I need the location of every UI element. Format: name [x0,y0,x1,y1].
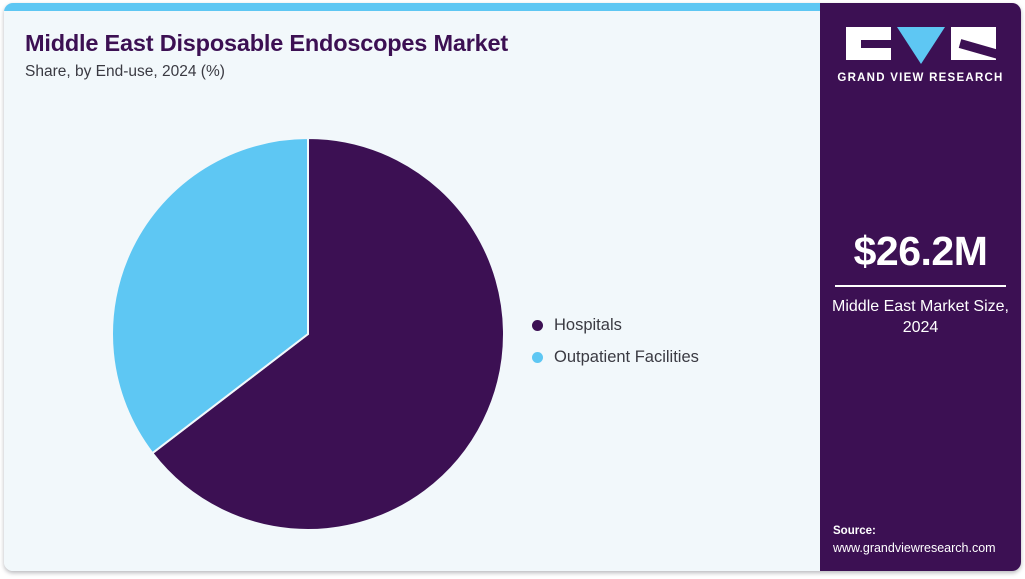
chart-panel: Middle East Disposable Endoscopes Market… [4,11,820,571]
stat-divider [835,285,1006,287]
source-url[interactable]: www.grandviewresearch.com [833,540,1021,557]
legend-item-outpatient-facilities[interactable]: Outpatient Facilities [532,341,782,373]
logo-marks [820,27,1021,63]
brand-logo: GRAND VIEW RESEARCH [820,27,1021,84]
legend-label-outpatient-facilities: Outpatient Facilities [554,348,699,367]
infographic-card: Middle East Disposable Endoscopes Market… [4,3,1021,571]
source-label: Source: [833,523,1021,540]
stat-caption: Middle East Market Size, 2024 [820,296,1021,338]
logo-letter-v-triangle-icon [897,27,945,64]
pie-chart [112,138,504,530]
chart-legend: Hospitals Outpatient Facilities [532,309,782,373]
top-accent-strip [4,3,820,11]
market-size-stat: $26.2M Middle East Market Size, 2024 [820,231,1021,338]
brand-sidebar: GRAND VIEW RESEARCH $26.2M Middle East M… [820,3,1021,571]
logo-letter-r-icon [951,27,996,60]
legend-item-hospitals[interactable]: Hospitals [532,309,782,341]
logo-letter-g-icon [846,27,891,60]
logo-wordmark: GRAND VIEW RESEARCH [820,72,1021,84]
page-title: Middle East Disposable Endoscopes Market [25,30,785,58]
legend-swatch-outpatient-facilities [532,352,543,363]
legend-label-hospitals: Hospitals [554,316,622,335]
source-block: Source: www.grandviewresearch.com [833,523,1021,557]
title-group: Middle East Disposable Endoscopes Market… [25,30,785,81]
legend-swatch-hospitals [532,320,543,331]
pie-chart-svg [112,138,504,530]
page-subtitle: Share, by End-use, 2024 (%) [25,63,785,82]
stat-value: $26.2M [820,231,1021,272]
